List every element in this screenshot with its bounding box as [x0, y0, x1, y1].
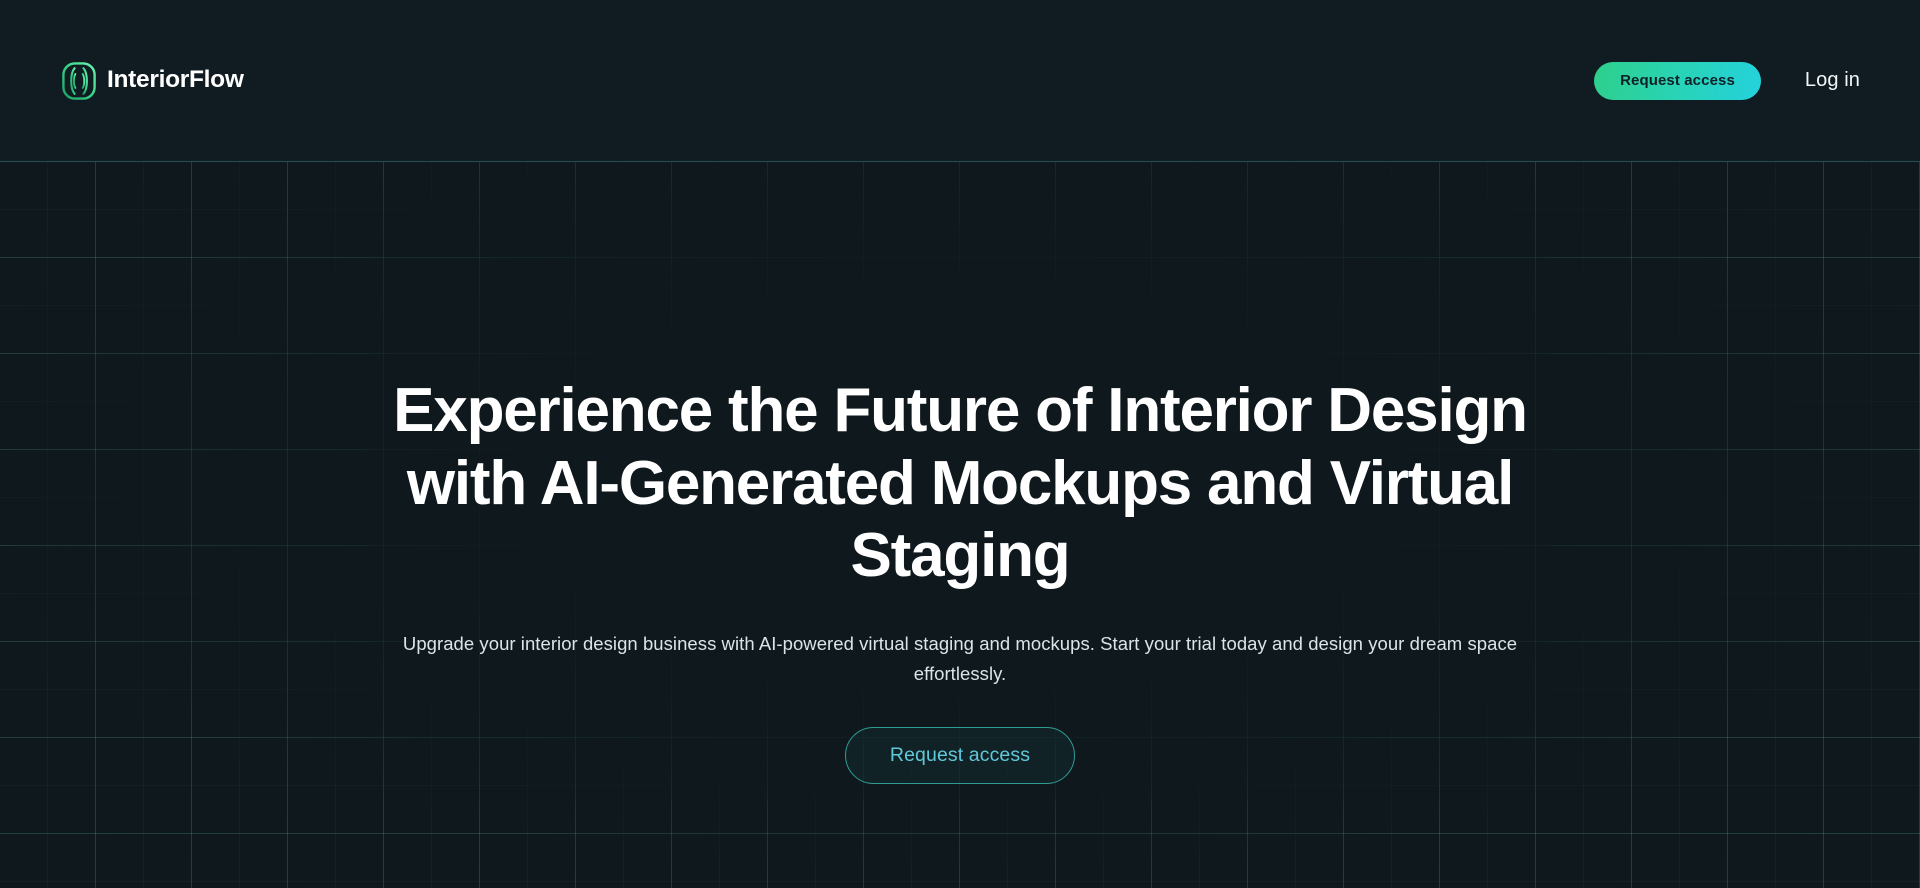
interiorflow-leaf-mark-icon: [62, 62, 96, 100]
brand-name: InteriorFlow: [107, 68, 244, 93]
header-request-access-button[interactable]: Request access: [1594, 62, 1761, 100]
brand-logo[interactable]: InteriorFlow: [62, 62, 244, 100]
hero-request-access-button[interactable]: Request access: [845, 727, 1075, 784]
hero-content: Experience the Future of Interior Design…: [370, 162, 1550, 784]
landing-page: InteriorFlow Request access Log in Exper…: [0, 0, 1920, 888]
hero-title: Experience the Future of Interior Design…: [380, 375, 1540, 593]
site-header: InteriorFlow Request access Log in: [0, 0, 1920, 162]
hero-section: Experience the Future of Interior Design…: [0, 162, 1920, 888]
login-link[interactable]: Log in: [1805, 69, 1860, 92]
hero-subtitle: Upgrade your interior design business wi…: [379, 629, 1541, 689]
header-actions: Request access Log in: [1594, 62, 1860, 100]
hero-cta-container: Request access: [370, 727, 1550, 784]
